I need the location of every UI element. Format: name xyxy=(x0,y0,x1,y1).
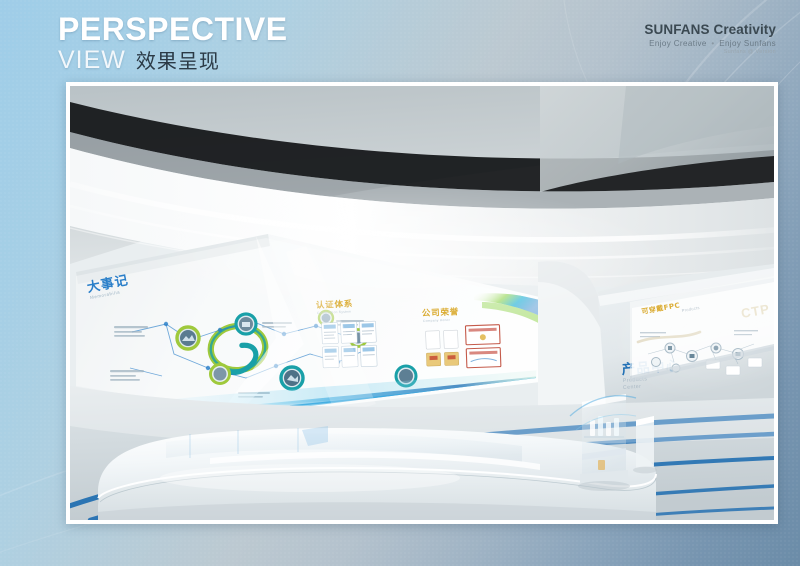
page-title-block: PERSPECTIVE VIEW 效果呈现 xyxy=(58,12,288,76)
page-subtitle-cn: 效果呈现 xyxy=(136,48,220,76)
perspective-render-frame: 大事记 Memorabilia 认证体系 Certification Syste… xyxy=(66,82,778,524)
brand-tagline-right: Enjoy Sunfans xyxy=(719,39,776,48)
scene-svg: 大事记 Memorabilia 认证体系 Certification Syste… xyxy=(70,86,774,520)
brand-tagline-left: Enjoy Creative xyxy=(649,39,707,48)
page-title: PERSPECTIVE xyxy=(58,12,288,46)
exhibition-hall-render: 大事记 Memorabilia 认证体系 Certification Syste… xyxy=(70,86,774,520)
page-subtitle-en: VIEW xyxy=(58,46,126,74)
brand-tagline-separator: • xyxy=(709,39,716,48)
brand-tagline: Enjoy Creative • Enjoy Sunfans xyxy=(644,39,776,48)
brand-name: SUNFANS Creativity xyxy=(644,22,776,37)
page-subtitle-row: VIEW 效果呈现 xyxy=(58,46,288,76)
brand-block: SUNFANS Creativity Enjoy Creative • Enjo… xyxy=(644,22,776,55)
pedestal xyxy=(633,416,657,473)
page-header: PERSPECTIVE VIEW 效果呈现 SUNFANS Creativity… xyxy=(0,0,800,84)
brand-version: Sunfans @ Version xyxy=(644,49,776,55)
